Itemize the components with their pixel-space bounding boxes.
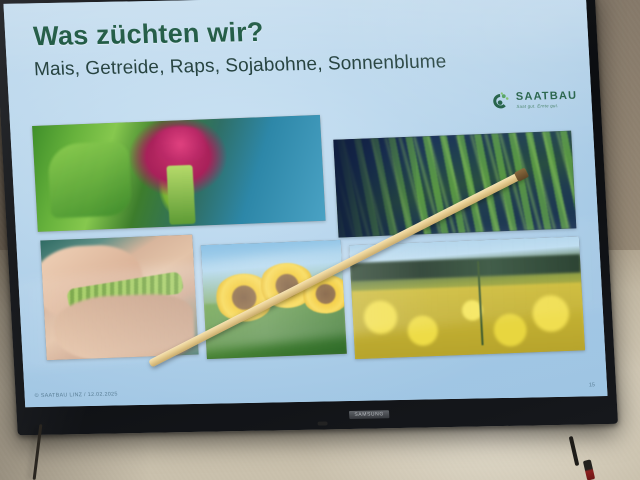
logo-tagline: Saat gut. Ernte gut.	[516, 104, 578, 109]
logo-text: SAATBAU Saat gut. Ernte gut.	[516, 91, 578, 109]
corn-husk	[47, 141, 132, 218]
logo-name: SAATBAU	[516, 91, 578, 103]
television: Was züchten wir? Mais, Getreide, Raps, S…	[0, 0, 628, 443]
corn-photo	[32, 115, 326, 232]
page-title: Was züchten wir?	[32, 17, 264, 52]
seed-circle-icon	[488, 90, 511, 112]
slide-page-number: 15	[589, 382, 595, 388]
wheat-photo	[40, 235, 198, 361]
tv-ir-sensor	[317, 421, 327, 425]
image-grid	[32, 113, 584, 375]
saatbau-logo: SAATBAU Saat gut. Ernte gut.	[488, 89, 578, 113]
corn-stalk	[167, 164, 196, 224]
rapeseed-blossoms	[351, 282, 585, 359]
soybean-photo	[333, 131, 576, 238]
tv-brand-badge: SAMSUNG	[349, 410, 389, 419]
rapeseed-photo	[349, 236, 585, 359]
tv-screen[interactable]: Was züchten wir? Mais, Getreide, Raps, S…	[3, 0, 607, 407]
photo-scene: Was züchten wir? Mais, Getreide, Raps, S…	[0, 0, 640, 480]
soybean-shadow	[333, 137, 419, 238]
